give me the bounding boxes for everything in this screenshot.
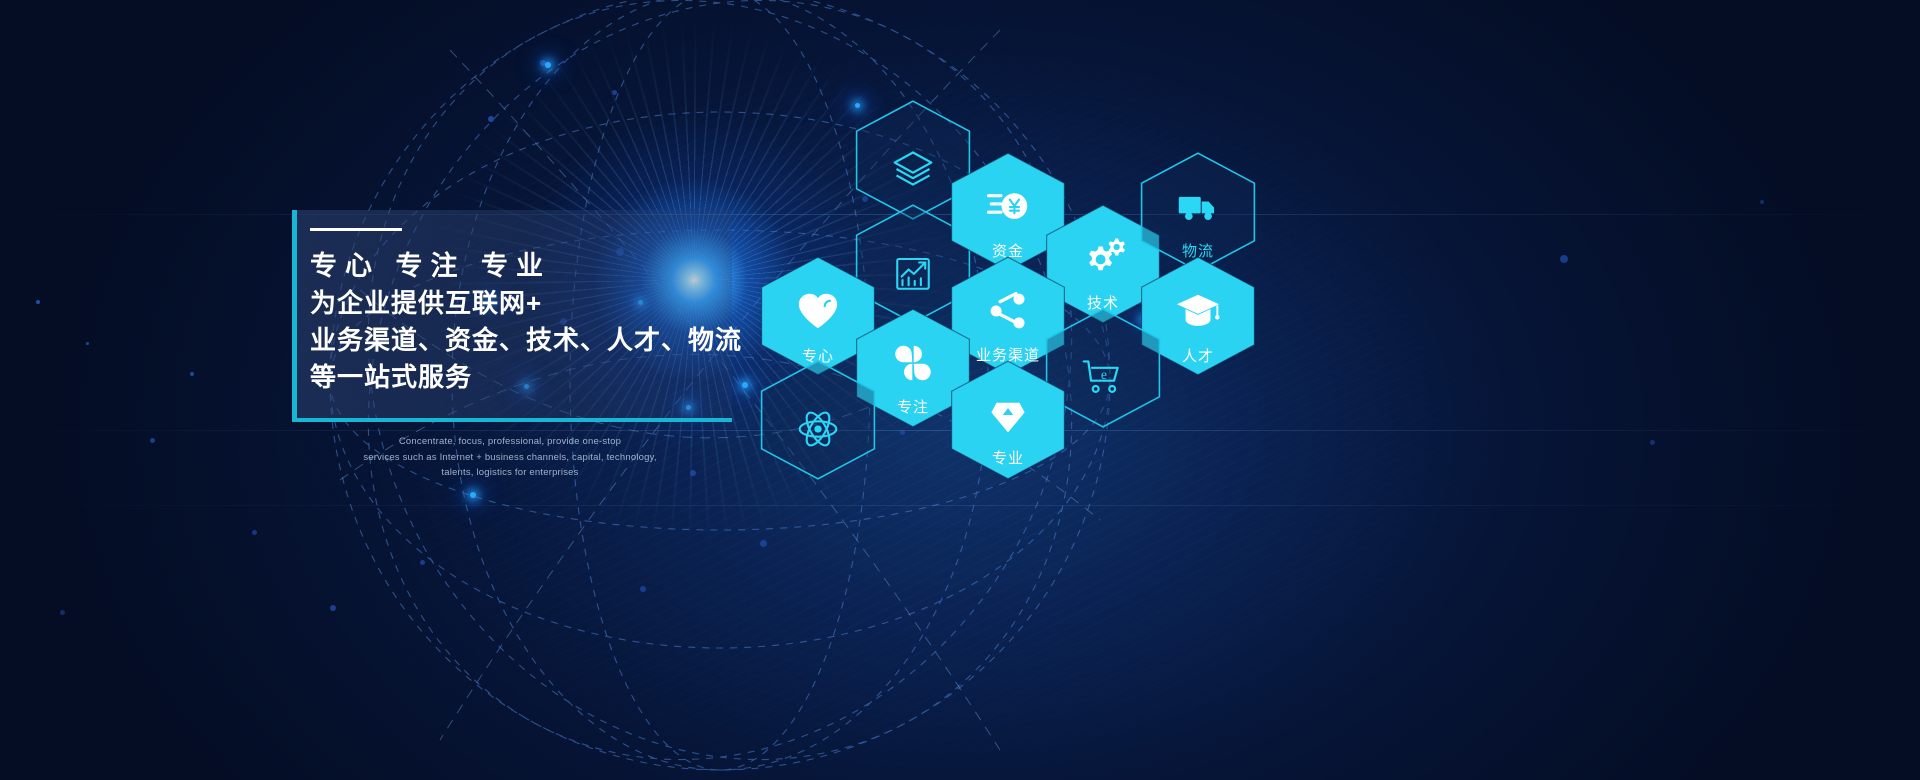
hex-tile-pro[interactable]: 专业 <box>948 360 1068 498</box>
hero-banner: 专心 专注 专业 为企业提供互联网+ 业务渠道、资金、技术、人才、物流 等一站式… <box>0 0 1920 780</box>
copy-panel-underline <box>292 418 732 422</box>
svg-text:e: e <box>1101 366 1107 381</box>
gears-icon <box>1081 237 1125 286</box>
headline-line-1: 专心 专注 专业 <box>310 247 780 285</box>
hex-content <box>758 360 878 498</box>
subcopy-line-1: Concentrate, focus, professional, provid… <box>330 434 690 450</box>
subcopy-line-3: talents, logistics for enterprises <box>330 465 690 481</box>
hex-label-pro: 专业 <box>992 447 1024 468</box>
chart-growth-icon <box>892 252 934 299</box>
clover-icon <box>891 341 935 390</box>
diamond-icon <box>987 394 1029 441</box>
yen-coin-icon <box>986 185 1030 234</box>
hex-label-focus: 专注 <box>897 396 929 417</box>
hex-label-talents: 人才 <box>1182 345 1214 366</box>
subcopy-block: Concentrate, focus, professional, provid… <box>330 434 690 481</box>
headline: 专心 专注 专业 为企业提供互联网+ 业务渠道、资金、技术、人才、物流 等一站式… <box>310 247 780 396</box>
hexagon-cluster: 资金 技术 物流 业务渠道 人才 专心 <box>740 100 1300 530</box>
headline-line-4: 等一站式服务 <box>310 359 780 396</box>
hex-tile-atom[interactable] <box>758 360 878 498</box>
copy-block: 专心 专注 专业 为企业提供互联网+ 业务渠道、资金、技术、人才、物流 等一站式… <box>310 228 780 396</box>
share-nodes-icon <box>986 289 1030 338</box>
hex-content: 专业 <box>948 360 1068 498</box>
graduation-cap-icon <box>1175 288 1221 339</box>
truck-icon <box>1176 185 1220 234</box>
heart-icon <box>795 288 841 339</box>
headline-line-3: 业务渠道、资金、技术、人才、物流 <box>310 322 780 359</box>
title-rule <box>310 228 402 231</box>
atom-icon <box>796 407 840 456</box>
shopping-cart-e-icon: e <box>1081 355 1125 404</box>
subcopy-line-2: services such as Internet + business cha… <box>330 450 690 466</box>
layers-icon <box>891 147 935 196</box>
headline-line-2: 为企业提供互联网+ <box>310 285 780 322</box>
